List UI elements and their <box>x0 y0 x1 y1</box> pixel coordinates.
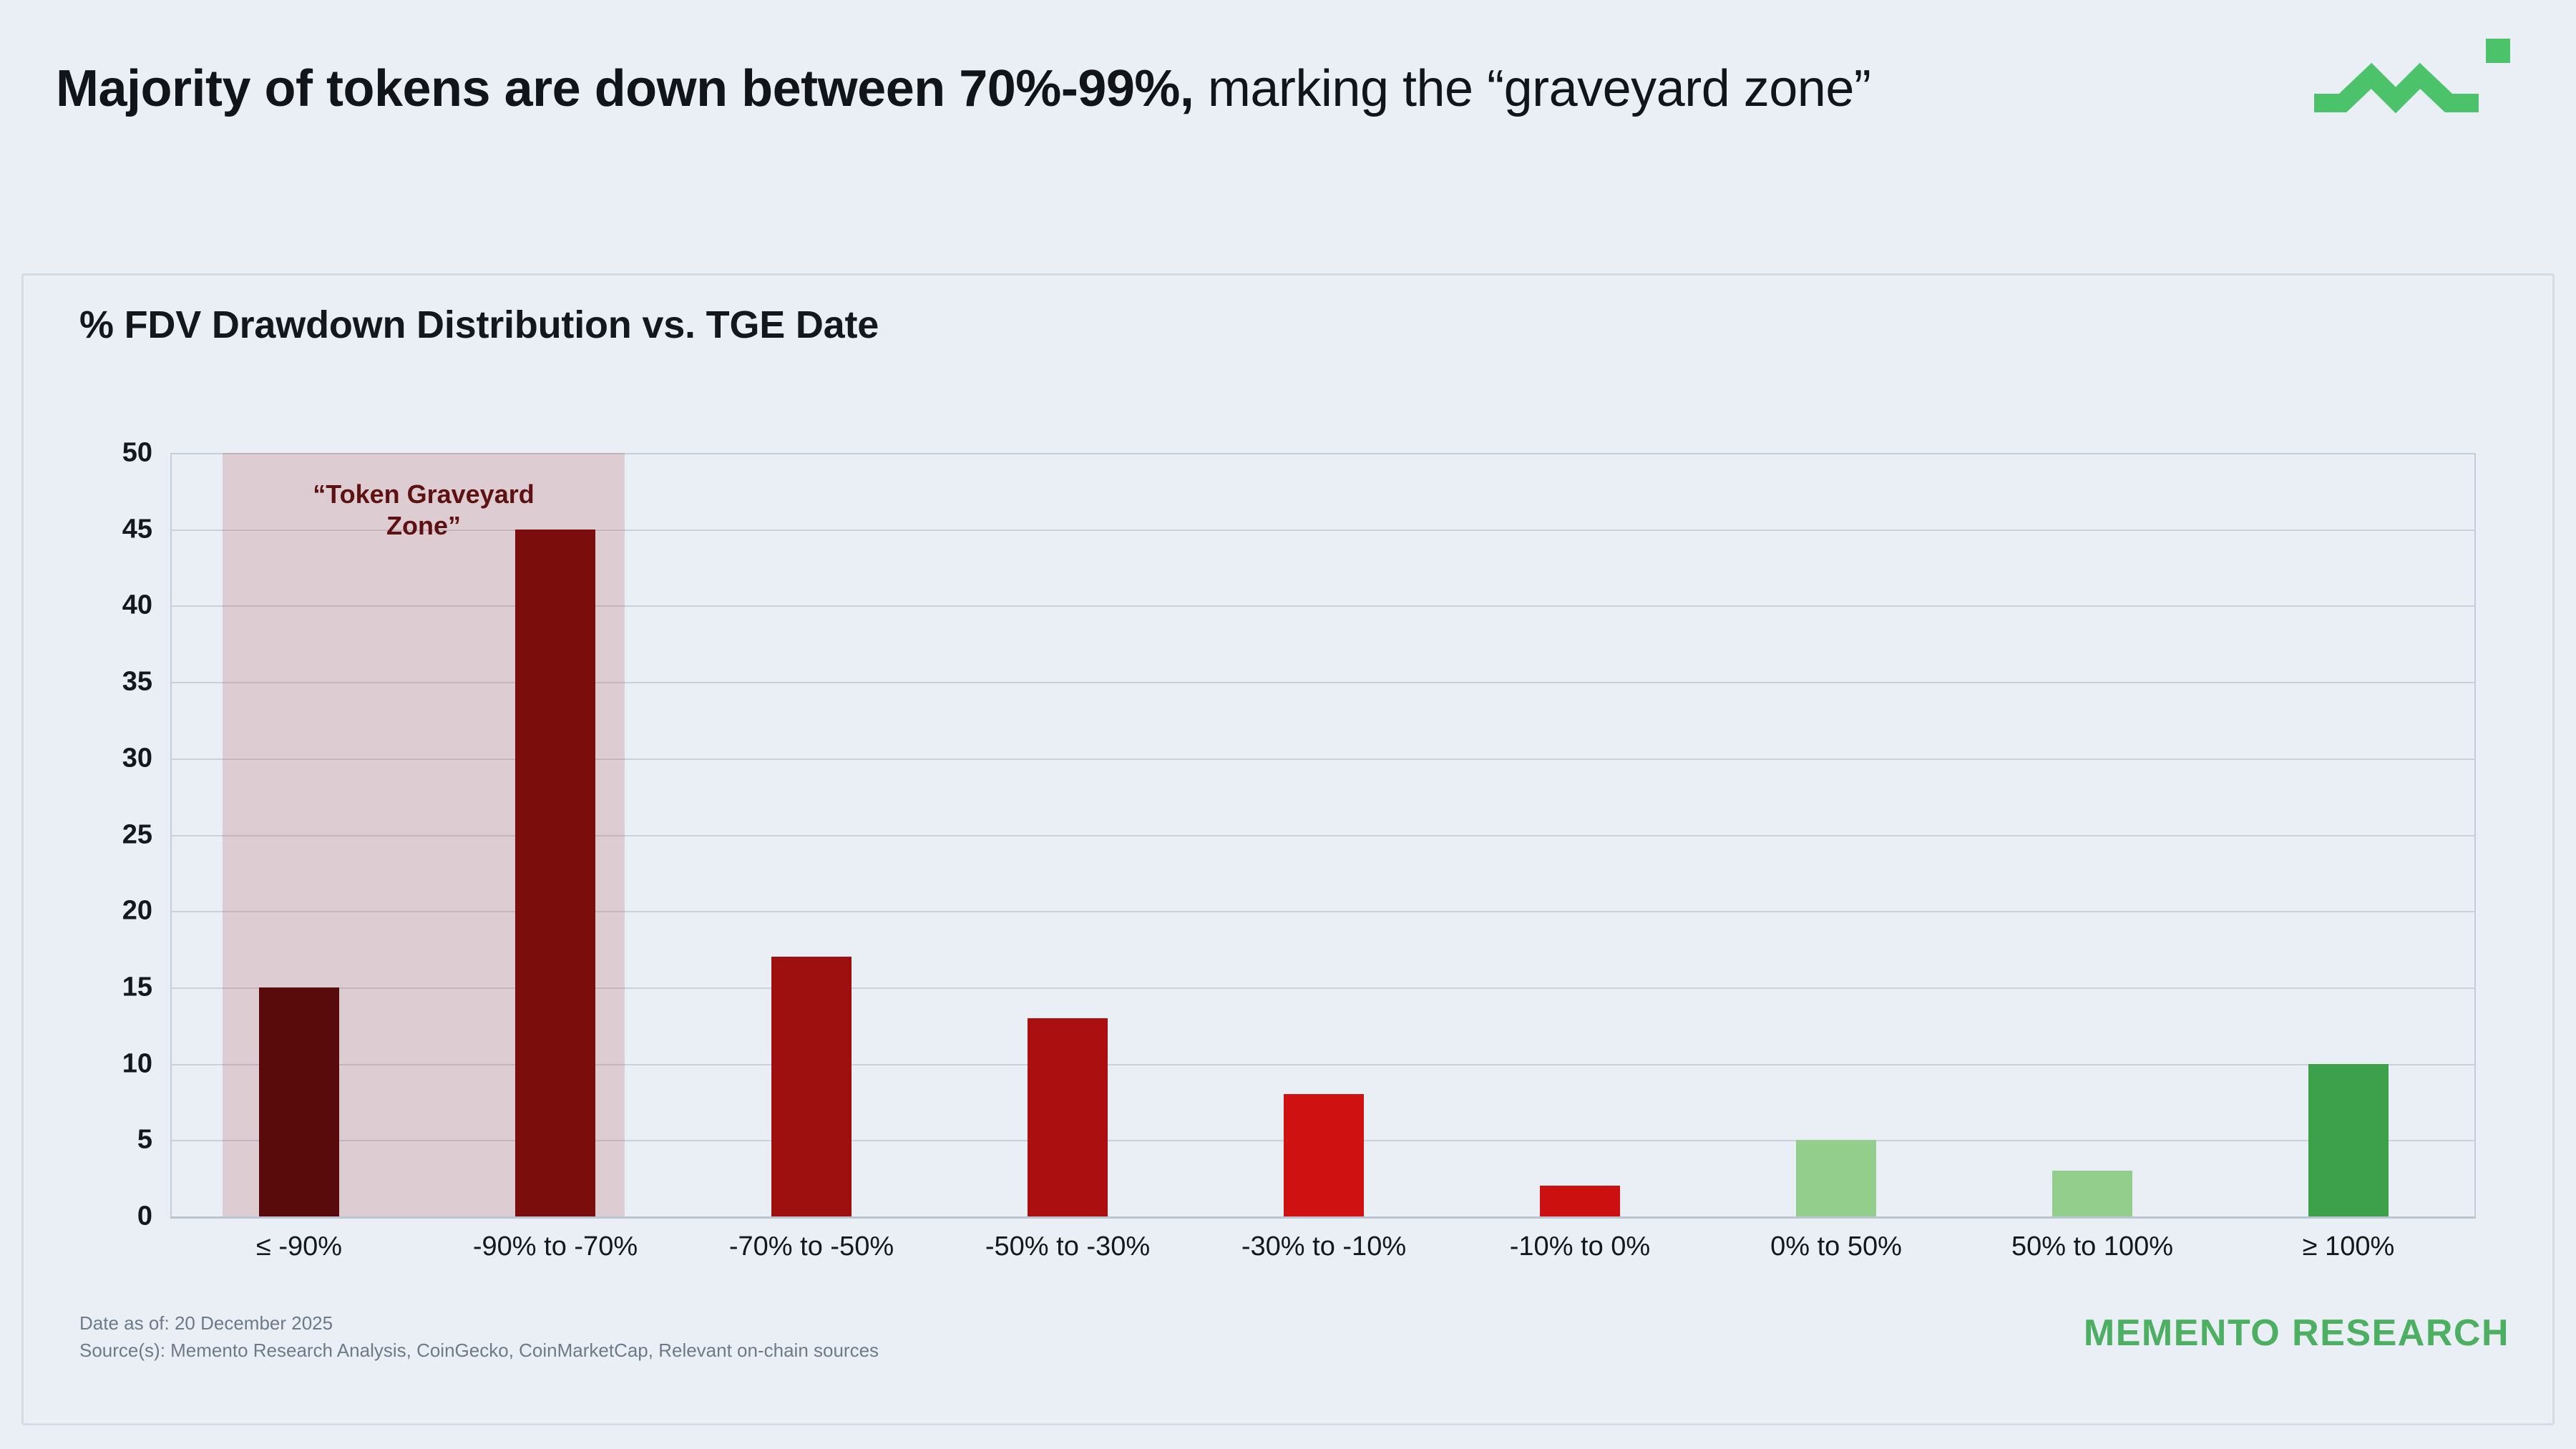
bar-minus50-to-minus30[interactable] <box>1028 1018 1108 1216</box>
y-tick-15: 15 <box>56 972 152 1002</box>
y-tick-40: 40 <box>56 590 152 621</box>
memento-chevron-icon <box>2310 34 2517 127</box>
logo-square-dot <box>2486 39 2510 63</box>
bar-0-to-50[interactable] <box>1796 1140 1876 1216</box>
bar-minus30-to-minus10[interactable] <box>1284 1094 1364 1216</box>
footnote-date: Date as of: 20 December 2025 <box>79 1310 879 1337</box>
bar-50-to-100[interactable] <box>2052 1171 2132 1216</box>
x-tick-2: -70% to -50% <box>729 1231 894 1262</box>
x-tick-3: -50% to -30% <box>985 1231 1150 1262</box>
bar-minus10-to-0[interactable] <box>1540 1186 1620 1216</box>
bar-minus90-to-minus70[interactable] <box>515 530 595 1216</box>
bar-lte-minus-90[interactable] <box>259 987 339 1216</box>
page-title: Majority of tokens are down between 70%-… <box>56 56 2217 122</box>
x-tick-8: ≥ 100% <box>2303 1231 2395 1262</box>
x-tick-1: -90% to -70% <box>473 1231 638 1262</box>
plot-wrapper: 50 45 40 35 30 25 20 15 10 5 0 <box>24 275 2557 1428</box>
y-tick-20: 20 <box>56 896 152 927</box>
x-tick-5: -10% to 0% <box>1510 1231 1650 1262</box>
x-axis-labels: ≤ -90% -90% to -70% -70% to -50% -50% to… <box>170 1231 2476 1289</box>
y-tick-50: 50 <box>56 438 152 469</box>
footnote: Date as of: 20 December 2025 Source(s): … <box>79 1310 879 1364</box>
memento-logo <box>2310 34 2517 127</box>
page-title-rest: marking the “graveyard zone” <box>1194 60 1870 117</box>
brand-wordmark: MEMENTO RESEARCH <box>2084 1312 2509 1355</box>
bars-layer <box>170 453 2476 1216</box>
y-tick-25: 25 <box>56 819 152 850</box>
bar-gte-100[interactable] <box>2308 1064 2389 1216</box>
bar-minus70-to-minus50[interactable] <box>771 957 852 1216</box>
y-tick-10: 10 <box>56 1048 152 1079</box>
footnote-source: Source(s): Memento Research Analysis, Co… <box>79 1337 879 1365</box>
page-title-bold: Majority of tokens are down between 70%-… <box>56 60 1194 117</box>
x-tick-6: 0% to 50% <box>1770 1231 1902 1262</box>
slide-root: Majority of tokens are down between 70%-… <box>0 0 2576 1449</box>
y-tick-35: 35 <box>56 667 152 698</box>
x-tick-0: ≤ -90% <box>256 1231 342 1262</box>
y-tick-30: 30 <box>56 743 152 774</box>
chart-card: % FDV Drawdown Distribution vs. TGE Date… <box>21 273 2555 1425</box>
x-axis-baseline <box>170 1216 2476 1219</box>
y-tick-45: 45 <box>56 514 152 545</box>
x-tick-4: -30% to -10% <box>1241 1231 1406 1262</box>
header: Majority of tokens are down between 70%-… <box>56 56 2217 122</box>
y-tick-0: 0 <box>56 1201 152 1232</box>
y-tick-5: 5 <box>56 1125 152 1156</box>
x-tick-7: 50% to 100% <box>2011 1231 2173 1262</box>
